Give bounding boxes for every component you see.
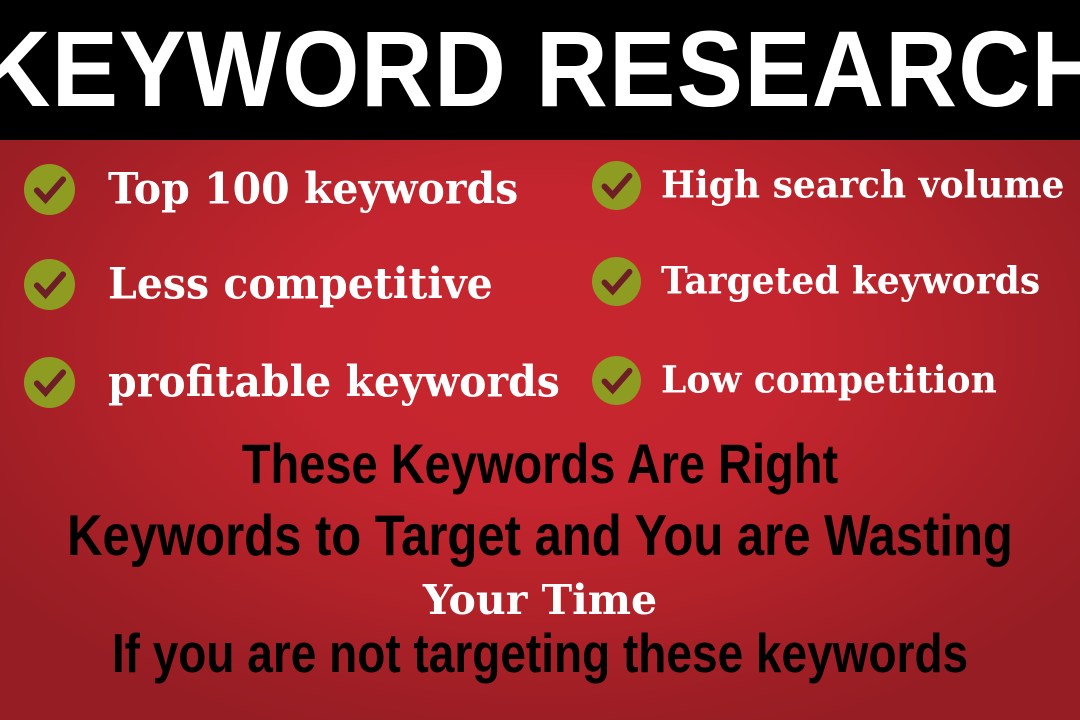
message-line-2: Keywords to Target and You are Wasting bbox=[0, 512, 1080, 561]
feature-item-targeted-keywords: Targeted keywords bbox=[592, 254, 1070, 308]
check-circle-icon bbox=[24, 357, 75, 408]
page-title: KEYWORD RESEARCH bbox=[0, 20, 1080, 120]
feature-item-high-search-volume: High search volume bbox=[592, 158, 1070, 212]
message-line-4: If you are not targeting these keywords bbox=[0, 630, 1080, 676]
feature-label: Less competitive bbox=[108, 264, 493, 305]
feature-checklist: Top 100 keywords Less competitive profit… bbox=[0, 146, 1080, 424]
check-circle-icon bbox=[592, 161, 641, 210]
message-line-3-highlight: Your Time bbox=[0, 580, 1080, 621]
page-title-text: KEYWORD RESEARCH bbox=[0, 14, 1080, 126]
check-circle-icon bbox=[592, 356, 641, 405]
feature-label: Targeted keywords bbox=[661, 263, 1040, 299]
feature-label: Top 100 keywords bbox=[108, 169, 518, 210]
title-banner: KEYWORD RESEARCH bbox=[0, 0, 1080, 140]
feature-item-profitable-keywords: profitable keywords bbox=[24, 355, 580, 409]
feature-label: Low competition bbox=[661, 362, 997, 398]
feature-label: High search volume bbox=[661, 167, 1064, 203]
check-circle-icon bbox=[24, 164, 75, 215]
message-block: These Keywords Are Right Keywords to Tar… bbox=[0, 424, 1080, 720]
feature-column-left: Top 100 keywords Less competitive profit… bbox=[24, 146, 580, 424]
feature-item-low-competition: Low competition bbox=[592, 353, 1070, 407]
check-circle-icon bbox=[24, 259, 75, 310]
check-circle-icon bbox=[592, 257, 641, 306]
feature-label: profitable keywords bbox=[108, 362, 560, 403]
feature-column-right: High search volume Targeted keywords Low… bbox=[592, 146, 1070, 424]
keyword-research-poster: KEYWORD RESEARCH Top 100 keywords Less bbox=[0, 0, 1080, 720]
feature-item-top-100-keywords: Top 100 keywords bbox=[24, 162, 580, 216]
message-line-1: These Keywords Are Right bbox=[0, 440, 1080, 487]
feature-item-less-competitive: Less competitive bbox=[24, 257, 580, 311]
